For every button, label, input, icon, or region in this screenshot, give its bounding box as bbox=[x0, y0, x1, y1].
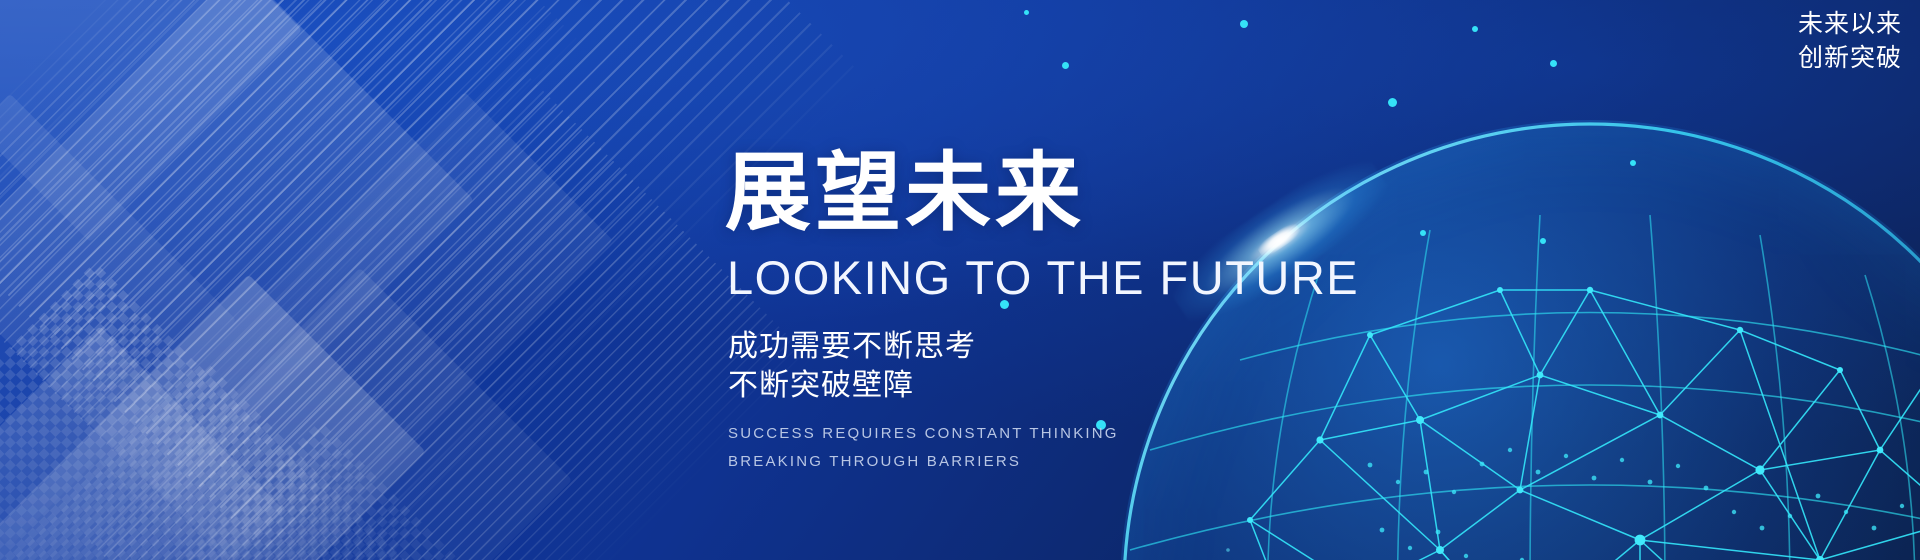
banner-stage: 展望未来 LOOKING TO THE FUTURE 成功需要不断思考 不断突破… bbox=[0, 0, 1920, 560]
decor-checker-2 bbox=[0, 360, 410, 560]
spark-dot bbox=[1062, 62, 1069, 69]
decor-rect-1 bbox=[0, 0, 302, 242]
decor-rect-5 bbox=[148, 268, 572, 560]
subtitle-chinese: 成功需要不断思考 不断突破壁障 bbox=[728, 327, 1359, 406]
spark-dot bbox=[1630, 160, 1636, 166]
decor-stripes-3 bbox=[65, 65, 815, 560]
caption-english-line2: BREAKING THROUGH BARRIERS bbox=[728, 448, 1359, 476]
spark-dot bbox=[1024, 10, 1029, 15]
decor-rect-3 bbox=[0, 94, 236, 547]
decor-checker-3 bbox=[150, 420, 489, 560]
page-title: 展望未来 bbox=[725, 150, 1359, 236]
decor-rect-7 bbox=[97, 92, 613, 560]
spark-dot bbox=[1388, 98, 1397, 107]
caption-english-line1: SUCCESS REQUIRES CONSTANT THINKING bbox=[728, 420, 1359, 448]
spark-dot bbox=[1420, 230, 1426, 236]
decor-rect-6 bbox=[0, 326, 284, 560]
subtitle-chinese-line2: 不断突破壁障 bbox=[728, 366, 1359, 406]
decor-checker-1 bbox=[0, 262, 328, 560]
corner-slogan: 未来以来 创新突破 bbox=[1798, 8, 1902, 76]
caption-english: SUCCESS REQUIRES CONSTANT THINKING BREAK… bbox=[728, 420, 1359, 476]
corner-slogan-line2: 创新突破 bbox=[1798, 42, 1902, 76]
decor-stripes-2 bbox=[0, 0, 584, 484]
spark-dot bbox=[1550, 60, 1557, 67]
decor-rect-4 bbox=[0, 275, 425, 560]
spark-dot bbox=[1240, 20, 1248, 28]
headline-block: 展望未来 LOOKING TO THE FUTURE 成功需要不断思考 不断突破… bbox=[725, 150, 1359, 475]
corner-slogan-line1: 未来以来 bbox=[1798, 8, 1902, 42]
subtitle-chinese-line1: 成功需要不断思考 bbox=[728, 327, 1359, 367]
spark-dot bbox=[1540, 238, 1546, 244]
spark-dot bbox=[1472, 26, 1478, 32]
subtitle-english: LOOKING TO THE FUTURE bbox=[727, 252, 1359, 305]
decor-rect-2 bbox=[0, 0, 474, 504]
